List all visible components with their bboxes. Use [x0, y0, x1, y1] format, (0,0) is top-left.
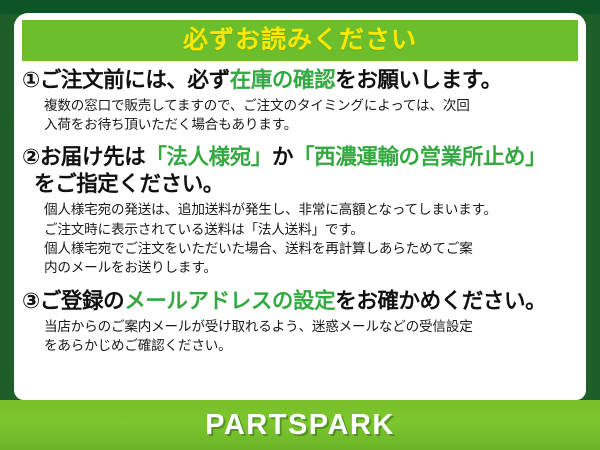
notice-item-2-marker: ②	[22, 145, 40, 169]
notice-item-3-marker: ③	[22, 289, 40, 313]
notice-item-3-heading-part-3: をお確かめください。	[335, 289, 546, 313]
notice-item-2-heading-part-3: か	[272, 145, 293, 169]
notice-item-1-heading-highlight: 在庫の確認	[230, 68, 336, 92]
notice-item-1-body-line-1: 複数の窓口で販売してますので、ご注文のタイミングによっては、次回	[44, 96, 580, 115]
notice-item-2-heading: ②お届け先は「法人様宛」か「西濃運輸の営業所止め」 をご指定ください。	[22, 144, 580, 200]
banner-top-border	[0, 0, 600, 14]
notice-item-3-body-line-2: をあらかじめご確認ください。	[44, 336, 580, 355]
notice-item-3-body: 当店からのご案内メールが受け取れるよう、迷惑メールなどの受信設定 をあらかじめご…	[22, 317, 580, 356]
notice-item-2-heading-highlight-1: 「法人様宛」	[145, 145, 272, 169]
brand-name: PARTSPARK	[205, 409, 395, 442]
notice-item-1-heading-part-3: をお願いします。	[335, 68, 502, 92]
notice-item-2-body-line-2: ご注文時に表示されている送料は「法人送料」です。	[44, 220, 580, 239]
notice-item-1-body-line-2: 入荷をお待ち頂いただく場合もあります。	[44, 115, 580, 134]
notice-item-list: ①ご注文前には、必ず在庫の確認をお願いします。 複数の窓口で販売してますので、ご…	[14, 65, 586, 357]
brand-footer: PARTSPARK	[0, 400, 600, 450]
notice-item-1: ①ご注文前には、必ず在庫の確認をお願いします。 複数の窓口で販売してますので、ご…	[22, 67, 580, 135]
notice-item-1-marker: ①	[22, 68, 40, 92]
notice-item-1-heading-part-1: ご注文前には、必ず	[40, 68, 230, 92]
notice-item-3-heading-highlight: メールアドレスの設定	[124, 289, 335, 313]
notice-item-1-heading: ①ご注文前には、必ず在庫の確認をお願いします。	[22, 67, 580, 95]
notice-item-3-heading: ③ご登録のメールアドレスの設定をお確かめください。	[22, 288, 580, 316]
notice-card: 必ずお読みください ①ご注文前には、必ず在庫の確認をお願いします。 複数の窓口で…	[14, 13, 586, 400]
notice-item-2-body-line-3: 個人様宅宛でご注文をいただいた場合、送料を再計算しあらためてご案	[44, 239, 580, 258]
notice-item-2-body-line-1: 個人様宅宛の発送は、追加送料が発生し、非常に高額となってしまいます。	[44, 200, 580, 219]
notice-item-3-heading-part-1: ご登録の	[40, 289, 124, 313]
notice-item-2-body: 個人様宅宛の発送は、追加送料が発生し、非常に高額となってしまいます。 ご注文時に…	[22, 200, 580, 277]
notice-item-2-heading-highlight-2: 「西濃運輸の営業所止め」	[293, 145, 546, 169]
notice-item-3-body-line-1: 当店からのご案内メールが受け取れるよう、迷惑メールなどの受信設定	[44, 317, 580, 336]
notice-title: 必ずお読みください	[183, 28, 417, 53]
notice-banner: 必ずお読みください ①ご注文前には、必ず在庫の確認をお願いします。 複数の窓口で…	[0, 0, 600, 450]
notice-item-2-heading-part-1: お届け先は	[40, 145, 146, 169]
notice-title-bar: 必ずお読みください	[22, 20, 578, 61]
notice-item-1-body: 複数の窓口で販売してますので、ご注文のタイミングによっては、次回 入荷をお待ち頂…	[22, 96, 580, 135]
notice-item-3: ③ご登録のメールアドレスの設定をお確かめください。 当店からのご案内メールが受け…	[22, 288, 580, 356]
notice-item-2: ②お届け先は「法人様宛」か「西濃運輸の営業所止め」 をご指定ください。 個人様宅…	[22, 144, 580, 278]
notice-item-2-body-line-4: 内のメールをお送りします。	[44, 258, 580, 277]
notice-item-2-heading-line-2: をご指定ください。	[22, 171, 580, 199]
